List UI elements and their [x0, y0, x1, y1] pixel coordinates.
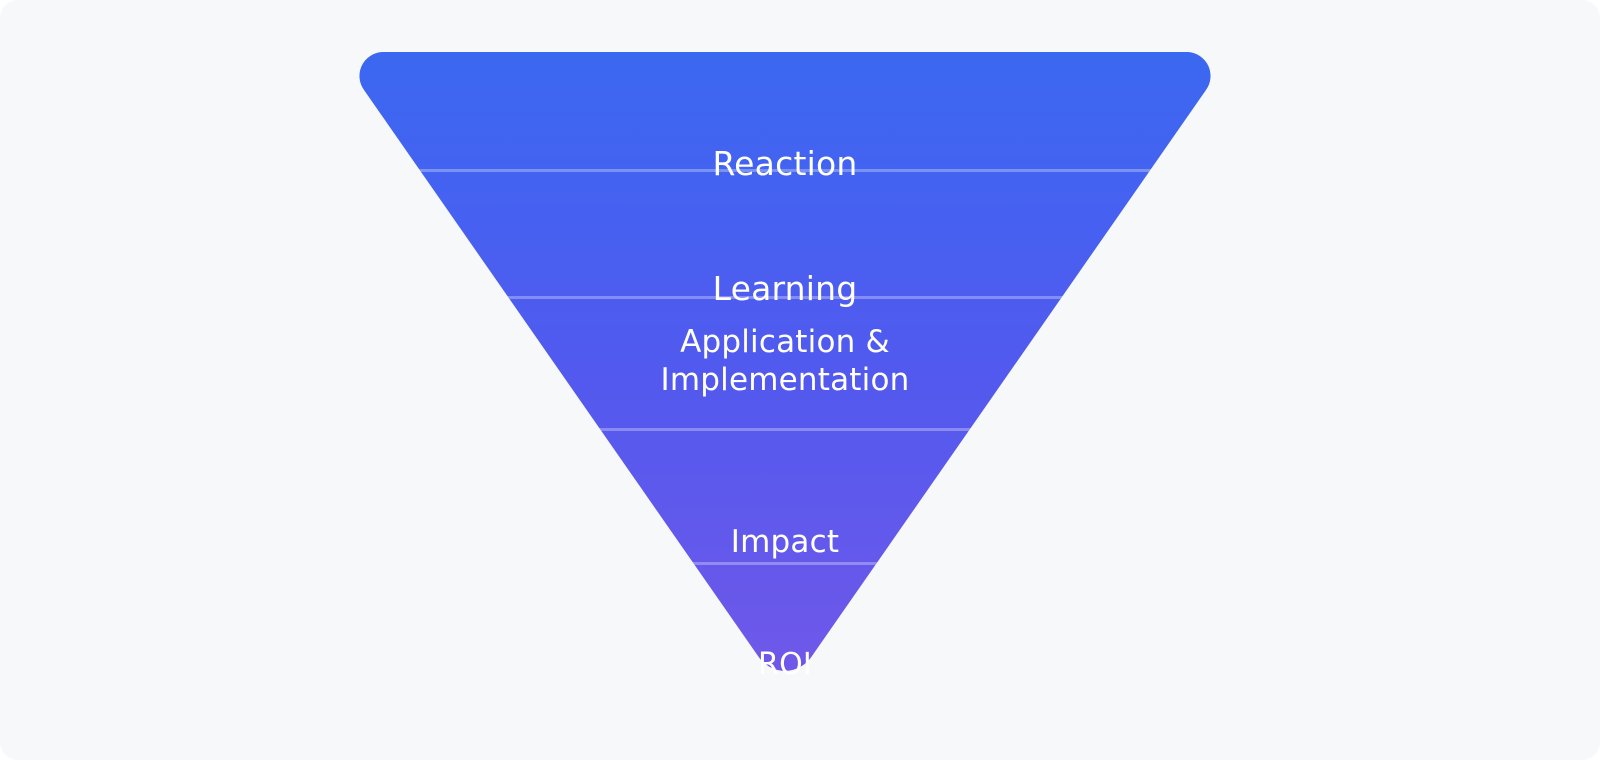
- funnel-divider-1: [358, 169, 1212, 172]
- funnel-diagram: Reaction Learning Application & Implemen…: [358, 52, 1212, 694]
- funnel-divider-2: [358, 296, 1212, 299]
- funnel-divider-4: [358, 562, 1212, 565]
- diagram-canvas: Reaction Learning Application & Implemen…: [0, 0, 1600, 760]
- funnel-divider-3: [358, 428, 1212, 431]
- funnel-body: [358, 52, 1212, 694]
- funnel-shape-svg: [358, 52, 1212, 694]
